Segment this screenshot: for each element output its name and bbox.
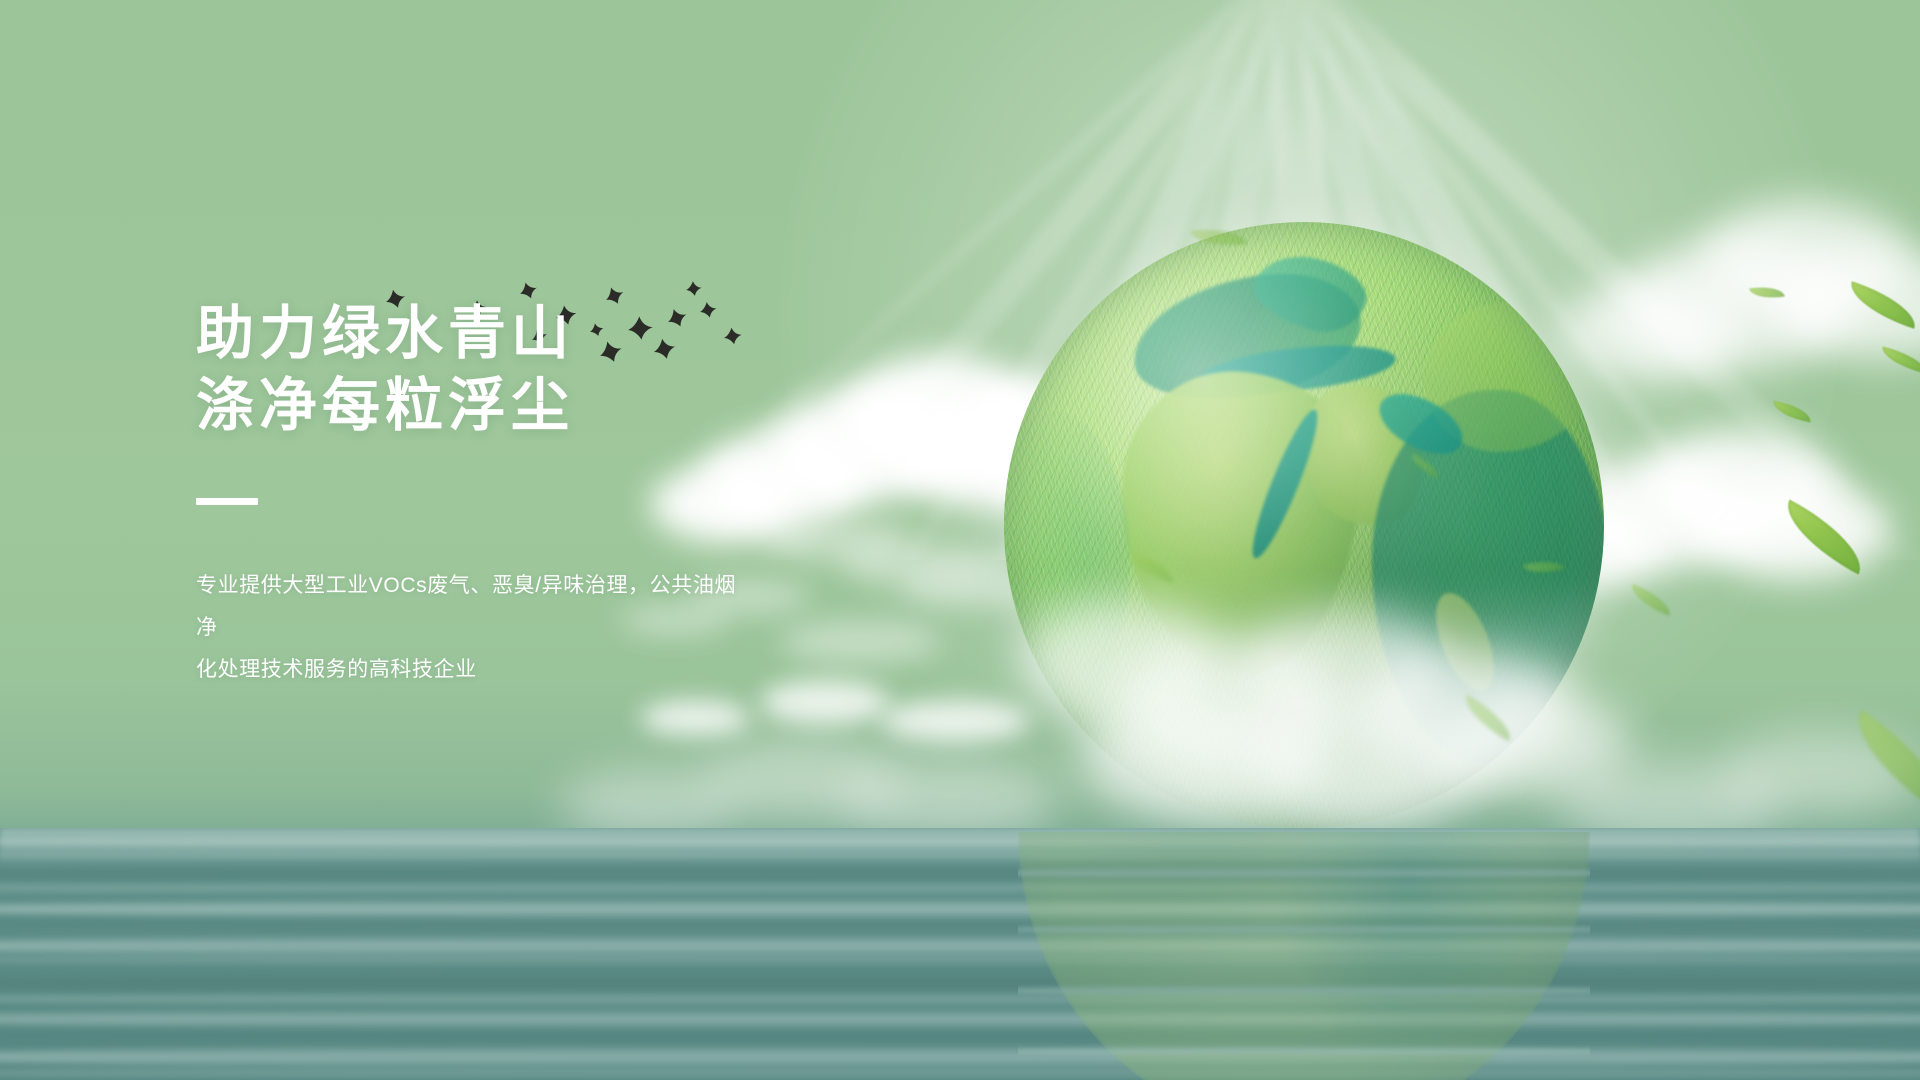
water-wave-line [0,850,1920,860]
hero-banner: 助力绿水青山 涤净每粒浮尘 专业提供大型工业VOCs废气、恶臭/异味治理，公共油… [0,0,1920,1080]
water-wave-line [0,954,1920,965]
water-wave-line [0,1066,1920,1080]
water-wave-line [0,834,1920,850]
water-wave-line [0,882,1920,894]
hero-subtitle: 专业提供大型工业VOCs废气、恶臭/异味治理，公共油烟净 化处理技术服务的高科技… [196,565,756,691]
water-surface [0,828,1920,1080]
subtitle-line-2: 化处理技术服务的高科技企业 [196,649,756,691]
hero-copy: 助力绿水青山 涤净每粒浮尘 专业提供大型工业VOCs废气、恶臭/异味治理，公共油… [196,298,956,691]
water-wave-line [0,898,1920,920]
water-wave-line [0,918,1920,931]
water-wave-line [0,1008,1920,1030]
headline-line-1: 助力绿水青山 [196,298,956,370]
headline-line-2: 涤净每粒浮尘 [196,370,956,442]
water-wave-line [0,992,1920,1006]
water-wave-line [0,864,1920,884]
headline-divider [196,498,258,505]
water-wave-line [0,1030,1920,1042]
subtitle-line-1: 专业提供大型工业VOCs废气、恶臭/异味治理，公共油烟净 [196,565,756,649]
